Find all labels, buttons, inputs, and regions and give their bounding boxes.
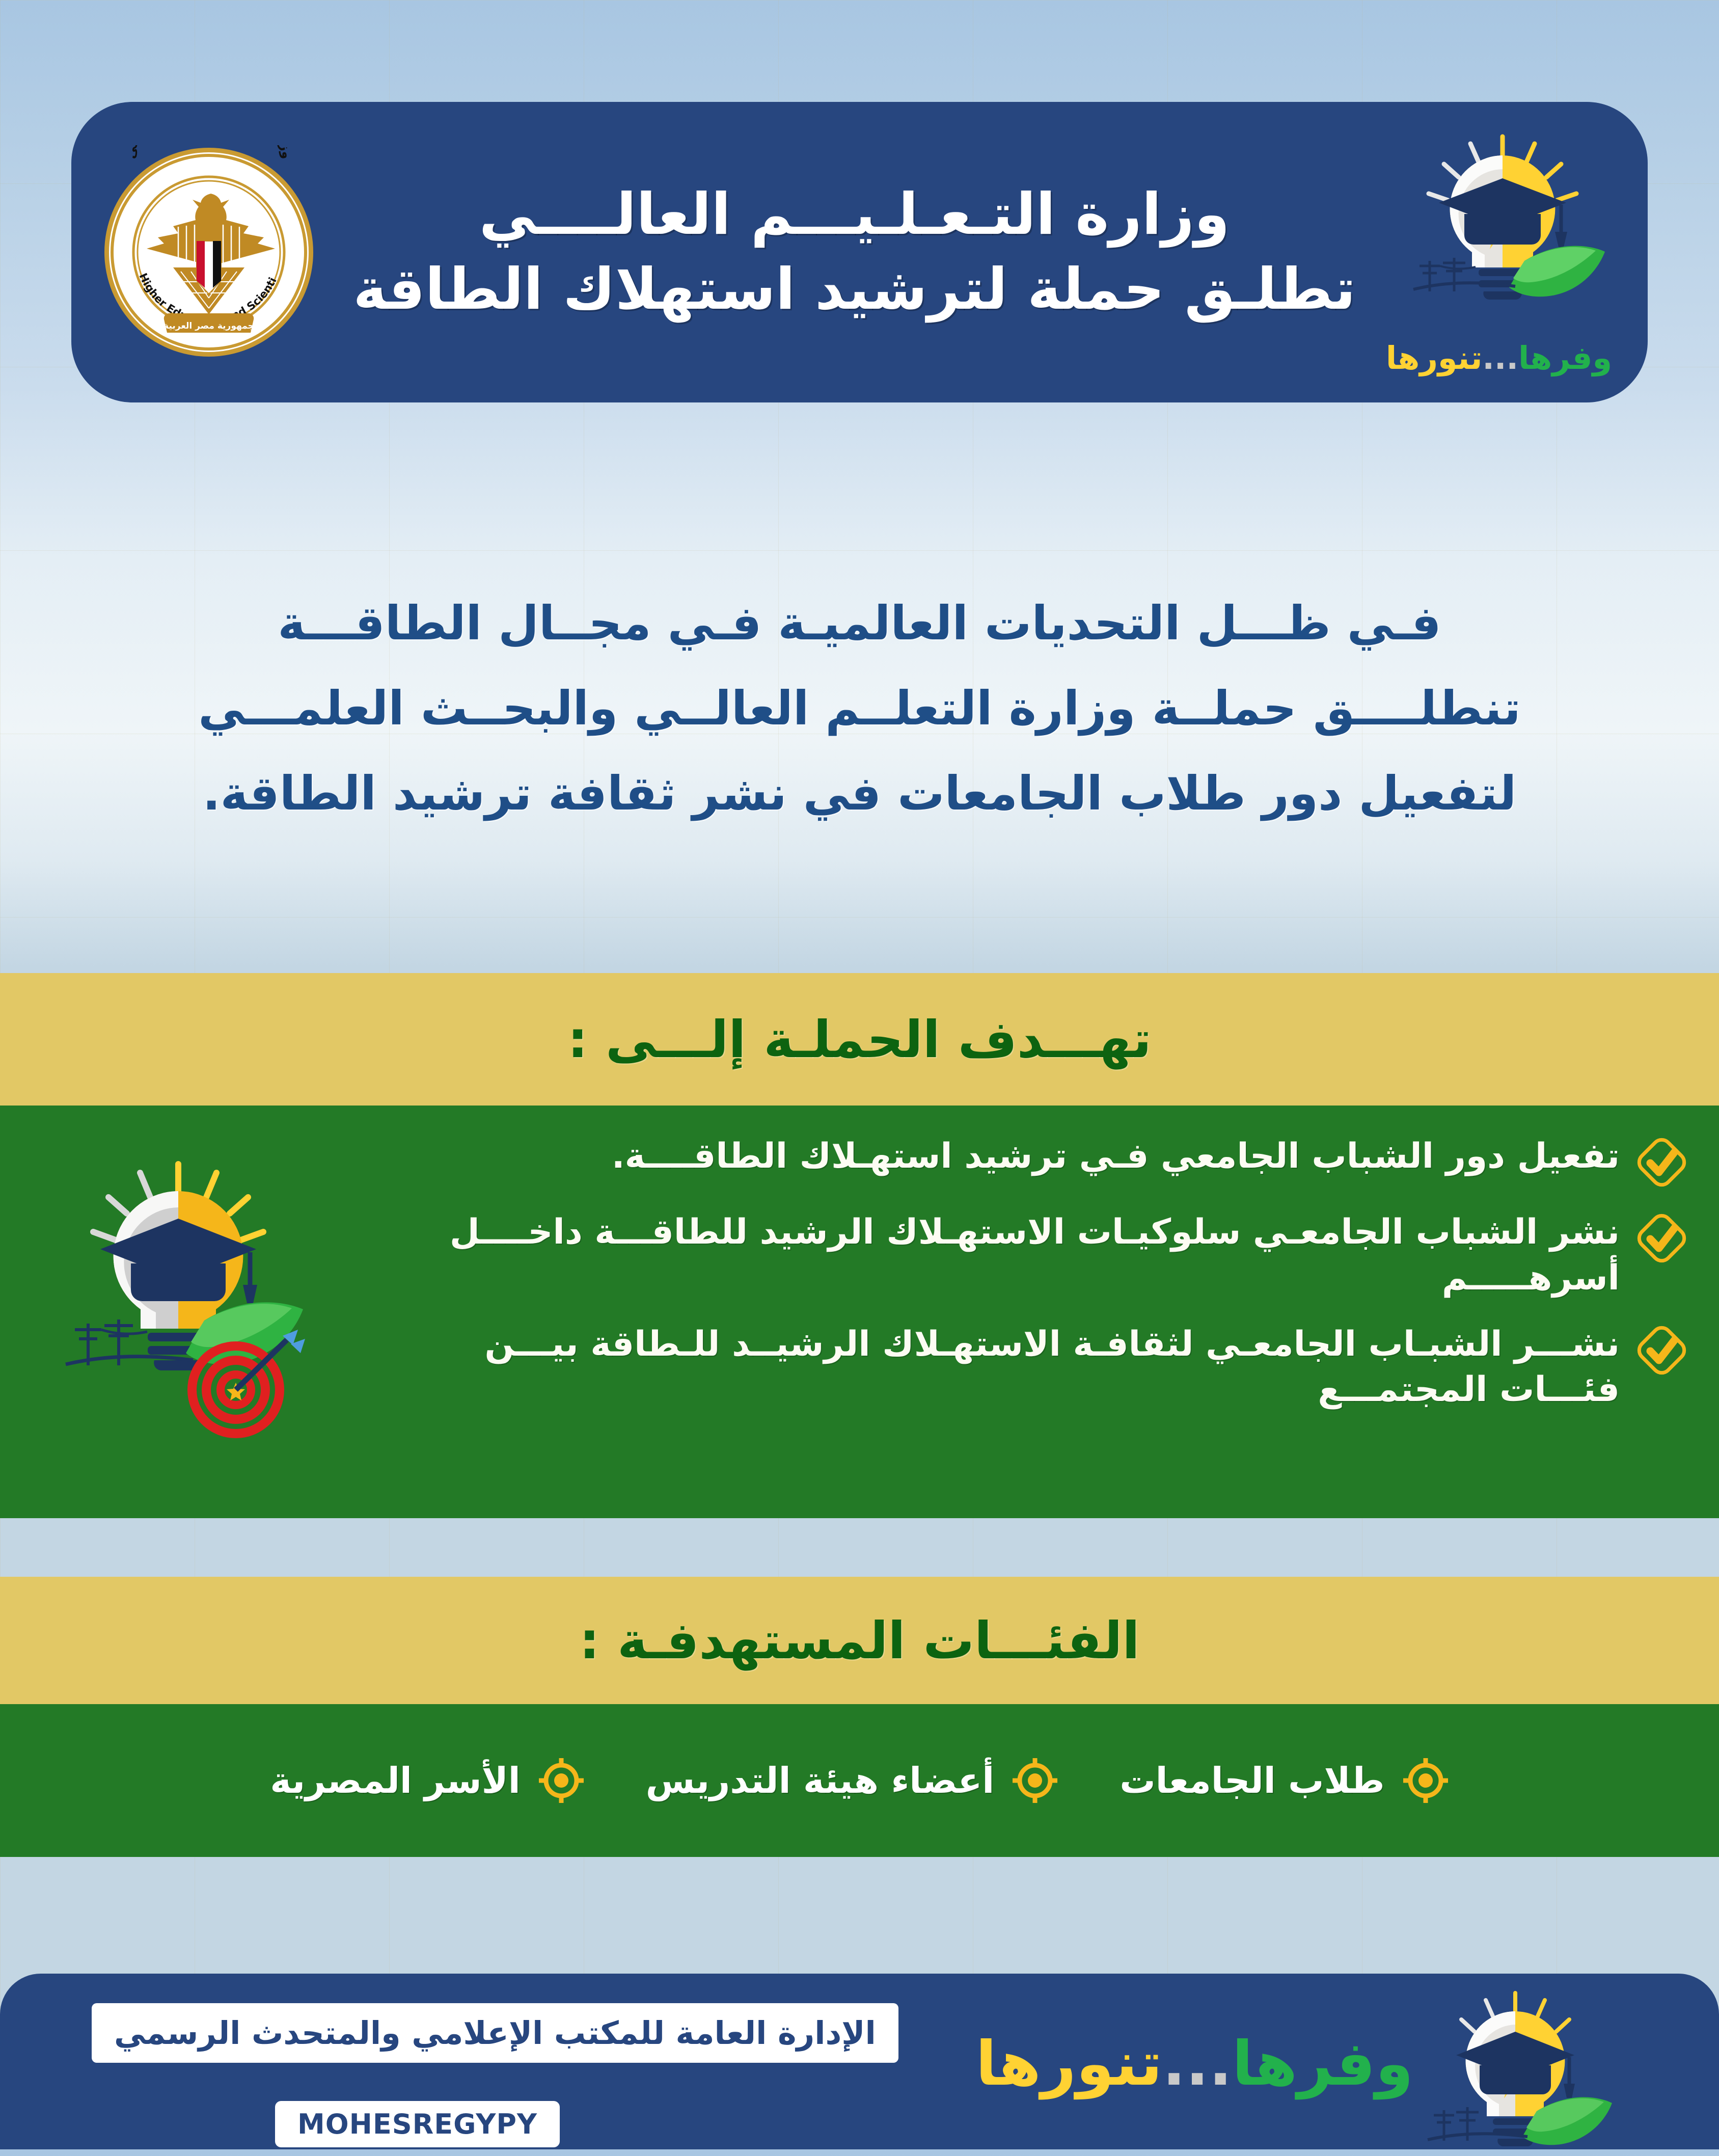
header-title-line2: تطلـق حملة لترشيد استهلاك الطاقة	[353, 257, 1355, 322]
social-handle-label: MOHESREGYPY	[297, 2108, 537, 2140]
targets-title-band: الفئـــات المستهدفـة :	[0, 1577, 1719, 1704]
footer-campaign-logo: وفرها...تنورها	[1087, 1983, 1638, 2146]
goal-item: تفعيل دور الشباب الجامعي فـي ترشيد استهـ…	[385, 1134, 1688, 1189]
campaign-logo: وفرها...تنورها	[1393, 127, 1612, 377]
target-group-faculty: أعضاء هيئة التدريس	[646, 1757, 1059, 1804]
campaign-tagline: وفرها...تنورها	[1393, 342, 1612, 374]
target-group-label: طلاب الجامعات	[1120, 1760, 1384, 1801]
goal-text: نشر الشباب الجامعـي سلوكيـات الاستهـلاك …	[385, 1209, 1620, 1301]
header-title-line1: وزارة التـعـلـيـــم العالــــي	[479, 182, 1230, 248]
footer-tagline-part1: وفرها	[1232, 2029, 1413, 2099]
goals-list: تفعيل دور الشباب الجامعي فـي ترشيد استهـ…	[385, 1134, 1688, 1413]
svg-text:جمهورية مصر العربية: جمهورية مصر العربية	[163, 321, 254, 331]
target-group-families: الأسر المصرية	[270, 1757, 584, 1804]
infographic-page: وفرها...تنورها وزارة التـعـلـيـــم العال…	[0, 0, 1719, 2149]
target-crosshair-icon	[538, 1757, 585, 1804]
check-badge-icon	[1635, 1324, 1688, 1377]
goal-item: نشر الشباب الجامعـي سلوكيـات الاستهـلاك …	[385, 1209, 1688, 1301]
goal-item: نشـــر الشبـاب الجامعـي لثقافـة الاستهـل…	[385, 1322, 1688, 1413]
check-badge-icon	[1635, 1211, 1688, 1265]
target-crosshair-icon	[1402, 1757, 1449, 1804]
press-office-box: الإدارة العامة للمكتب الإعلامي والمتحدث …	[92, 2003, 898, 2063]
footer-tagline: وفرها...تنورها	[976, 2034, 1413, 2095]
footer-bar: الإدارة العامة للمكتب الإعلامي والمتحدث …	[0, 1974, 1719, 2149]
header-card: وفرها...تنورها وزارة التـعـلـيـــم العال…	[71, 102, 1648, 402]
targets-band: طلاب الجامعات أعضاء هيئة التدريس	[0, 1704, 1719, 1857]
egypt-ministry-emblem: وزارة التعليم العالى والبحث العلمى Minis…	[102, 145, 316, 359]
intro-line-1: فـي ظـــل التحديات العالميـة فـي مجــال …	[102, 594, 1617, 653]
intro-line-2: تنطلــــق حملــة وزارة التعلــم العالــي…	[102, 679, 1617, 738]
lightbulb-graduation-leaf-logo	[1408, 1988, 1622, 2156]
ministry-emblem: وزارة التعليم العالى والبحث العلمى Minis…	[102, 145, 316, 359]
check-badge-icon	[1635, 1136, 1688, 1189]
social-handle-badge[interactable]: MOHESREGYPY	[275, 2101, 560, 2147]
tagline-part1: وفرها	[1518, 339, 1612, 376]
target-crosshair-icon	[1012, 1757, 1058, 1804]
goals-title-band: تهـــدف الحملـة إلـــى :	[0, 973, 1719, 1106]
goal-text: نشـــر الشبـاب الجامعـي لثقافـة الاستهـل…	[385, 1322, 1620, 1413]
target-group-label: الأسر المصرية	[270, 1760, 520, 1801]
header-title-group: وزارة التـعـلـيـــم العالــــي تطلـق حمل…	[316, 182, 1393, 322]
footer-tagline-part2: تنورها	[976, 2029, 1163, 2099]
lightbulb-target-arrow-illustration	[43, 1136, 329, 1462]
intro-line-3: لتفعيل دور طلاب الجامعات في نشر ثقافة تر…	[102, 764, 1617, 823]
targets-section-title: الفئـــات المستهدفـة :	[579, 1611, 1139, 1670]
press-office-label: الإدارة العامة للمكتب الإعلامي والمتحدث …	[114, 2014, 876, 2052]
goal-text: تفعيل دور الشباب الجامعي فـي ترشيد استهـ…	[385, 1134, 1620, 1179]
target-group-students: طلاب الجامعات	[1120, 1757, 1449, 1804]
tagline-dots: ...	[1482, 339, 1518, 376]
goals-band: تفعيل دور الشباب الجامعي فـي ترشيد استهـ…	[0, 1106, 1719, 1518]
footer-tagline-dots: ...	[1162, 2029, 1232, 2099]
lightbulb-graduation-leaf-logo	[1393, 127, 1612, 306]
goals-section-title: تهـــدف الحملـة إلـــى :	[567, 1010, 1152, 1069]
target-group-label: أعضاء هيئة التدريس	[646, 1760, 995, 1801]
intro-paragraph: فـي ظـــل التحديات العالميـة فـي مجــال …	[0, 484, 1719, 932]
tagline-part2: تنورها	[1386, 339, 1482, 376]
